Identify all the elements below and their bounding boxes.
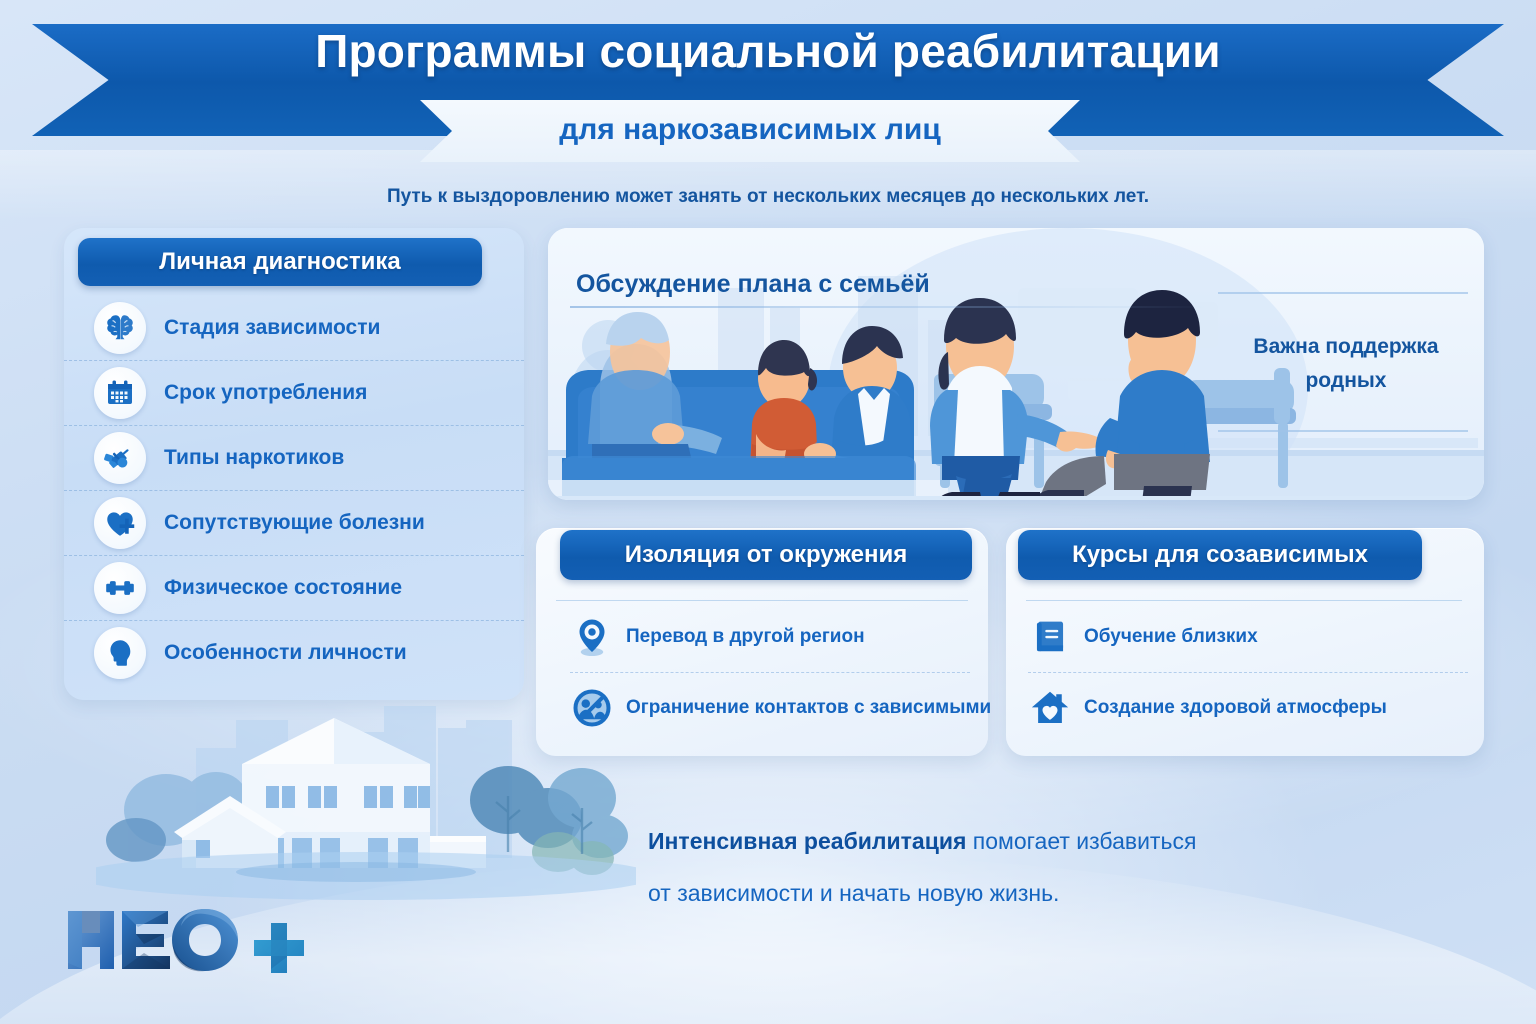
list-item-label: Стадия зависимости (164, 316, 380, 340)
list-item[interactable]: Создание здоровой атмосферы (1028, 672, 1468, 743)
illustration-note-rule-top (1218, 292, 1468, 294)
isolation-top-rule (556, 600, 968, 601)
list-item[interactable]: Перевод в другой регион (570, 602, 970, 672)
list-item[interactable]: Особенности личности (64, 620, 524, 685)
list-item-label: Перевод в другой регион (626, 626, 865, 648)
dumbbell-icon (94, 562, 146, 614)
page-title: Программы социальной реабилитации (0, 24, 1536, 78)
book-icon (1028, 615, 1072, 659)
list-item-label: Создание здоровой атмосферы (1084, 697, 1387, 719)
list-item-label: Сопутствующие болезни (164, 511, 425, 535)
list-item-label: Физическое состояние (164, 576, 402, 600)
house-heart-icon (1028, 686, 1072, 730)
lead-paragraph: Путь к выздоровлению может занять от нес… (0, 186, 1536, 208)
list-item-label: Типы наркотиков (164, 446, 344, 470)
calendar-icon (94, 367, 146, 419)
illustration-note: Важна поддержка родных (1228, 330, 1464, 398)
diagnostics-list: Стадия зависимости С (64, 296, 524, 685)
illustration-title: Обсуждение плана с семьёй (576, 270, 930, 299)
diagnostics-header-pill: Личная диагностика (78, 238, 482, 286)
brain-icon (94, 302, 146, 354)
neighbourhood-illustration (96, 690, 636, 920)
list-item[interactable]: Обучение близких (1028, 602, 1468, 672)
neo-plus-logo (62, 905, 312, 975)
list-item-label: Ограничение контактов с зависимыми (626, 697, 991, 719)
list-item-label: Особенности личности (164, 641, 407, 665)
list-item-label: Срок употребления (164, 381, 367, 405)
codependent-list: Обучение близких Создание здоровой атмос… (1028, 602, 1468, 743)
list-item[interactable]: Сопутствующие болезни (64, 490, 524, 555)
syringe-icon (94, 432, 146, 484)
footer-statement-strong: Интенсивная реабилитация (648, 828, 966, 854)
list-item[interactable]: Срок употребления (64, 360, 524, 425)
diagnostics-header-label: Личная диагностика (159, 248, 400, 276)
codependent-header-pill: Курсы для созависимых (1018, 530, 1422, 580)
codependent-header-label: Курсы для созависимых (1072, 541, 1368, 569)
list-item[interactable]: Стадия зависимости (64, 296, 524, 360)
page-subtitle: для наркозависимых лиц (420, 113, 1080, 147)
isolation-header-pill: Изоляция от окружения (560, 530, 972, 580)
list-item-label: Обучение близких (1084, 626, 1258, 648)
illustration-title-rule (570, 306, 1210, 308)
infographic-poster: Программы социальной реабилитации для на… (0, 0, 1536, 1024)
isolation-header-label: Изоляция от окружения (625, 541, 908, 569)
head-profile-icon (94, 627, 146, 679)
list-item[interactable]: Типы наркотиков (64, 425, 524, 490)
list-item[interactable]: Физическое состояние (64, 555, 524, 620)
footer-statement: Интенсивная реабилитация помогает избави… (648, 815, 1408, 919)
illustration-note-rule-bottom (1218, 430, 1468, 432)
footer-statement-line2: от зависимости и начать новую жизнь. (648, 867, 1408, 919)
codependent-top-rule (1026, 600, 1462, 601)
map-pin-icon (570, 615, 614, 659)
heart-plus-icon (94, 497, 146, 549)
footer-statement-rest: помогает избавиться (966, 828, 1196, 854)
